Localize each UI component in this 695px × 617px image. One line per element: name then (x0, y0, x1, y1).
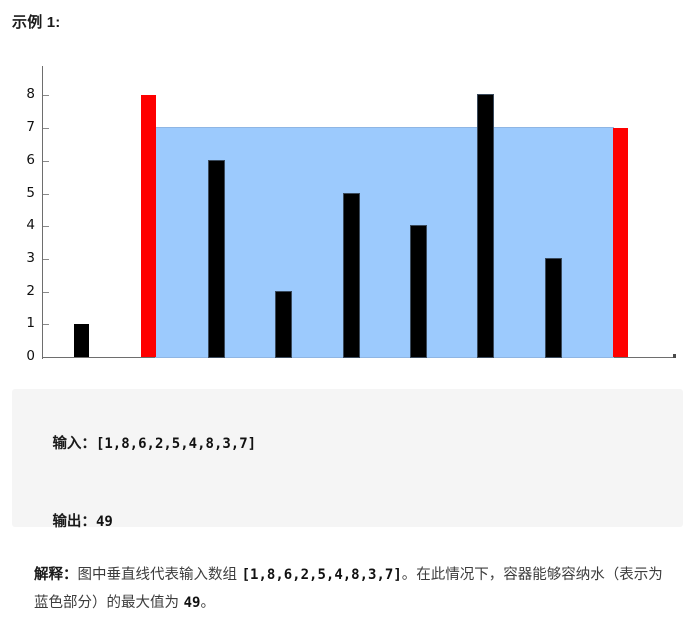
bar-3 (209, 161, 224, 357)
explanation-text-3: 。 (200, 595, 215, 611)
y-tick-label-4: 4 (18, 219, 35, 233)
example-info-panel: 输入：[1,8,6,2,5,4,8,3,7] 输出：49 解释：图中垂直线代表输… (12, 389, 683, 527)
y-tick-2 (43, 292, 49, 293)
explanation-line: 解释：图中垂直线代表输入数组 [1,8,6,2,5,4,8,3,7]。在此情况下… (34, 561, 663, 617)
y-tick-label-6: 6 (18, 154, 35, 168)
explanation-label: 解释： (34, 567, 78, 583)
x-axis-end-tick (673, 354, 676, 358)
bar-chart: 012345678 (0, 60, 695, 375)
y-tick-3 (43, 259, 49, 260)
bar-4 (276, 292, 291, 357)
bar-9 (613, 128, 628, 357)
bar-1 (74, 324, 89, 357)
y-tick-8 (43, 95, 49, 96)
output-line: 输出：49 (34, 483, 663, 561)
y-tick-label-0: 0 (18, 350, 35, 364)
y-tick-4 (43, 226, 49, 227)
explanation-array: [1,8,6,2,5,4,8,3,7] (242, 567, 402, 583)
y-tick-label-2: 2 (18, 285, 35, 299)
y-axis-line (42, 66, 43, 359)
y-tick-1 (43, 324, 49, 325)
bar-2 (141, 95, 156, 357)
x-axis-line (42, 357, 676, 358)
input-label: 输入： (52, 436, 96, 452)
input-line: 输入：[1,8,6,2,5,4,8,3,7] (34, 405, 663, 483)
page-title: 示例 1: (12, 11, 61, 32)
water-fill (156, 128, 613, 357)
bar-7 (478, 95, 493, 357)
output-label: 输出： (52, 514, 96, 530)
explanation-text-1: 图中垂直线代表输入数组 (78, 567, 242, 583)
y-tick-label-5: 5 (18, 187, 35, 201)
y-tick-7 (43, 128, 49, 129)
input-value: [1,8,6,2,5,4,8,3,7] (96, 436, 256, 452)
y-tick-label-1: 1 (18, 317, 35, 331)
bar-8 (546, 259, 561, 357)
y-tick-5 (43, 194, 49, 195)
y-tick-label-3: 3 (18, 252, 35, 266)
bar-5 (344, 194, 359, 358)
y-tick-label-8: 8 (18, 88, 35, 102)
y-tick-6 (43, 161, 49, 162)
y-tick-label-7: 7 (18, 121, 35, 135)
bar-6 (411, 226, 426, 357)
output-value: 49 (96, 514, 113, 530)
explanation-value: 49 (184, 595, 201, 611)
